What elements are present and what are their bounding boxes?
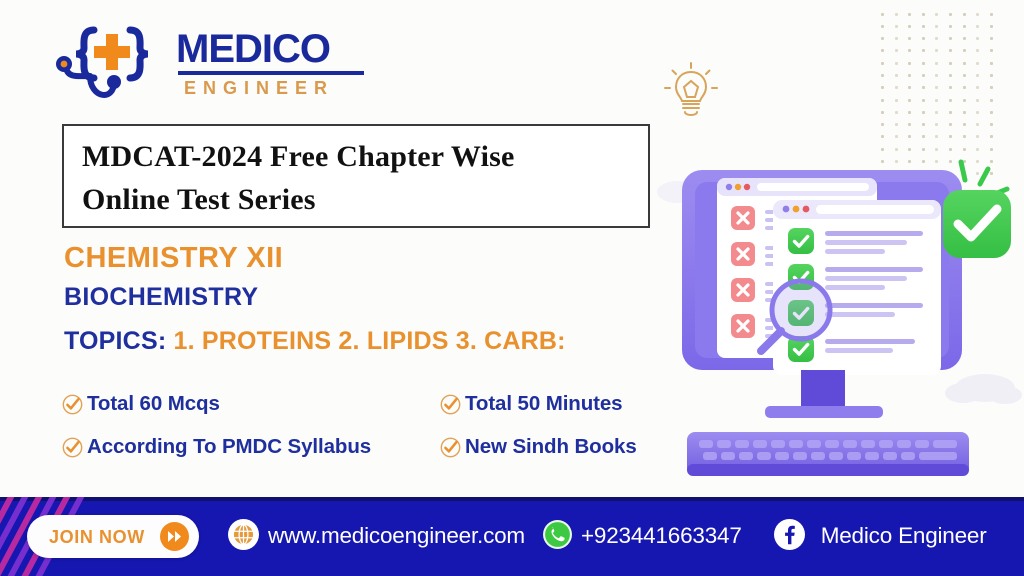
join-now-label: JOIN NOW (49, 528, 145, 546)
headline-line-2: Online Test Series (82, 179, 630, 222)
feature-label: According To PMDC Syllabus (87, 437, 371, 458)
join-now-button[interactable]: JOIN NOW (27, 515, 199, 558)
double-chevron-right-icon (160, 522, 189, 551)
facebook-icon (774, 519, 805, 555)
logo-primary-text: MEDICO (176, 29, 364, 69)
headline-line-1: MDCAT-2024 Free Chapter Wise (82, 136, 630, 179)
website-link[interactable]: www.medicoengineer.com (228, 519, 525, 555)
medical-cross-stethoscope-icon (52, 16, 172, 112)
check-circle-icon (62, 394, 83, 415)
feature-item: New Sindh Books (440, 437, 682, 458)
feature-item: Total 60 Mcqs (62, 394, 440, 415)
poster-canvas: MEDICO ENGINEER MDCAT-2024 Free Chapter … (0, 0, 1024, 576)
headline-box: MDCAT-2024 Free Chapter Wise Online Test… (62, 124, 650, 228)
topics-label: TOPICS: (64, 327, 166, 355)
globe-icon (228, 519, 259, 555)
footer-bar: JOIN NOW (0, 497, 1024, 576)
feature-item: According To PMDC Syllabus (62, 437, 440, 458)
brand-logo: MEDICO ENGINEER (52, 16, 352, 112)
whatsapp-icon (543, 520, 572, 554)
feature-label: New Sindh Books (465, 437, 637, 458)
facebook-text: Medico Engineer (821, 525, 987, 548)
check-circle-icon (62, 437, 83, 458)
logo-underline (178, 71, 364, 75)
light-bulb-icon (660, 60, 722, 122)
topics-line: TOPICS: 1. PROTEINS 2. LIPIDS 3. CARB: (64, 329, 566, 354)
feature-list: Total 60 Mcqs Total 50 Minutes According… (62, 394, 682, 480)
website-text: www.medicoengineer.com (268, 525, 525, 548)
check-circle-icon (440, 437, 461, 458)
feature-row: Total 60 Mcqs Total 50 Minutes (62, 394, 682, 415)
whatsapp-link[interactable]: +923441663347 (543, 520, 742, 554)
facebook-link[interactable]: Medico Engineer (774, 519, 987, 555)
logo-secondary-text: ENGINEER (184, 79, 364, 97)
cloud (945, 374, 1022, 404)
phone-text: +923441663347 (581, 525, 742, 548)
feature-item: Total 50 Minutes (440, 394, 682, 415)
online-test-monitor-illustration (655, 150, 1024, 480)
branch-heading: BIOCHEMISTRY (64, 285, 258, 310)
monitor-stand (801, 370, 845, 412)
feature-label: Total 50 Minutes (465, 394, 623, 415)
keyboard (687, 432, 969, 476)
feature-row: According To PMDC Syllabus New Sindh Boo… (62, 437, 682, 458)
feature-label: Total 60 Mcqs (87, 394, 220, 415)
topics-value: 1. PROTEINS 2. LIPIDS 3. CARB: (174, 327, 566, 355)
subject-heading: CHEMISTRY XII (64, 244, 283, 273)
check-circle-icon (440, 394, 461, 415)
contact-links: www.medicoengineer.com +923441663347 (228, 497, 1024, 576)
